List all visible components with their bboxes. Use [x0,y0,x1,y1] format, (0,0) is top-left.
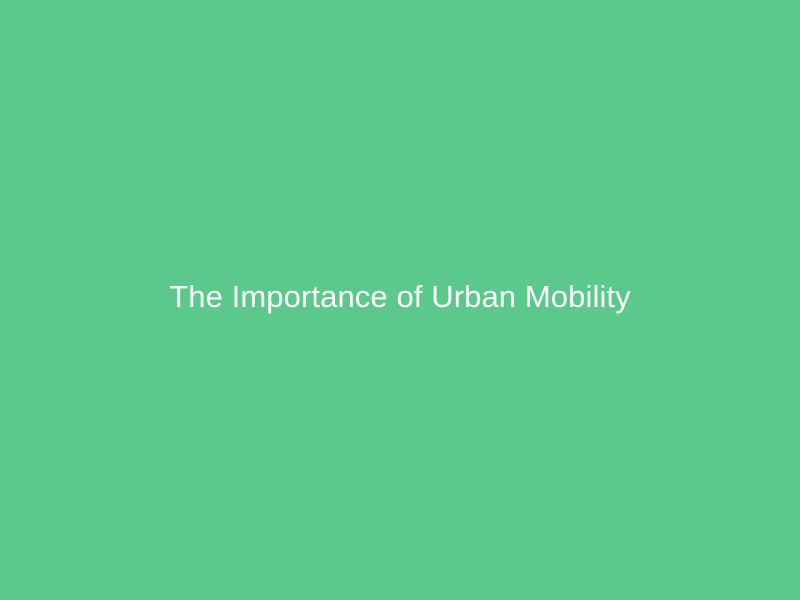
slide-canvas: The Importance of Urban Mobility [0,0,800,600]
headline-block: The Importance of Urban Mobility [0,278,800,317]
page-title: The Importance of Urban Mobility [40,278,760,317]
